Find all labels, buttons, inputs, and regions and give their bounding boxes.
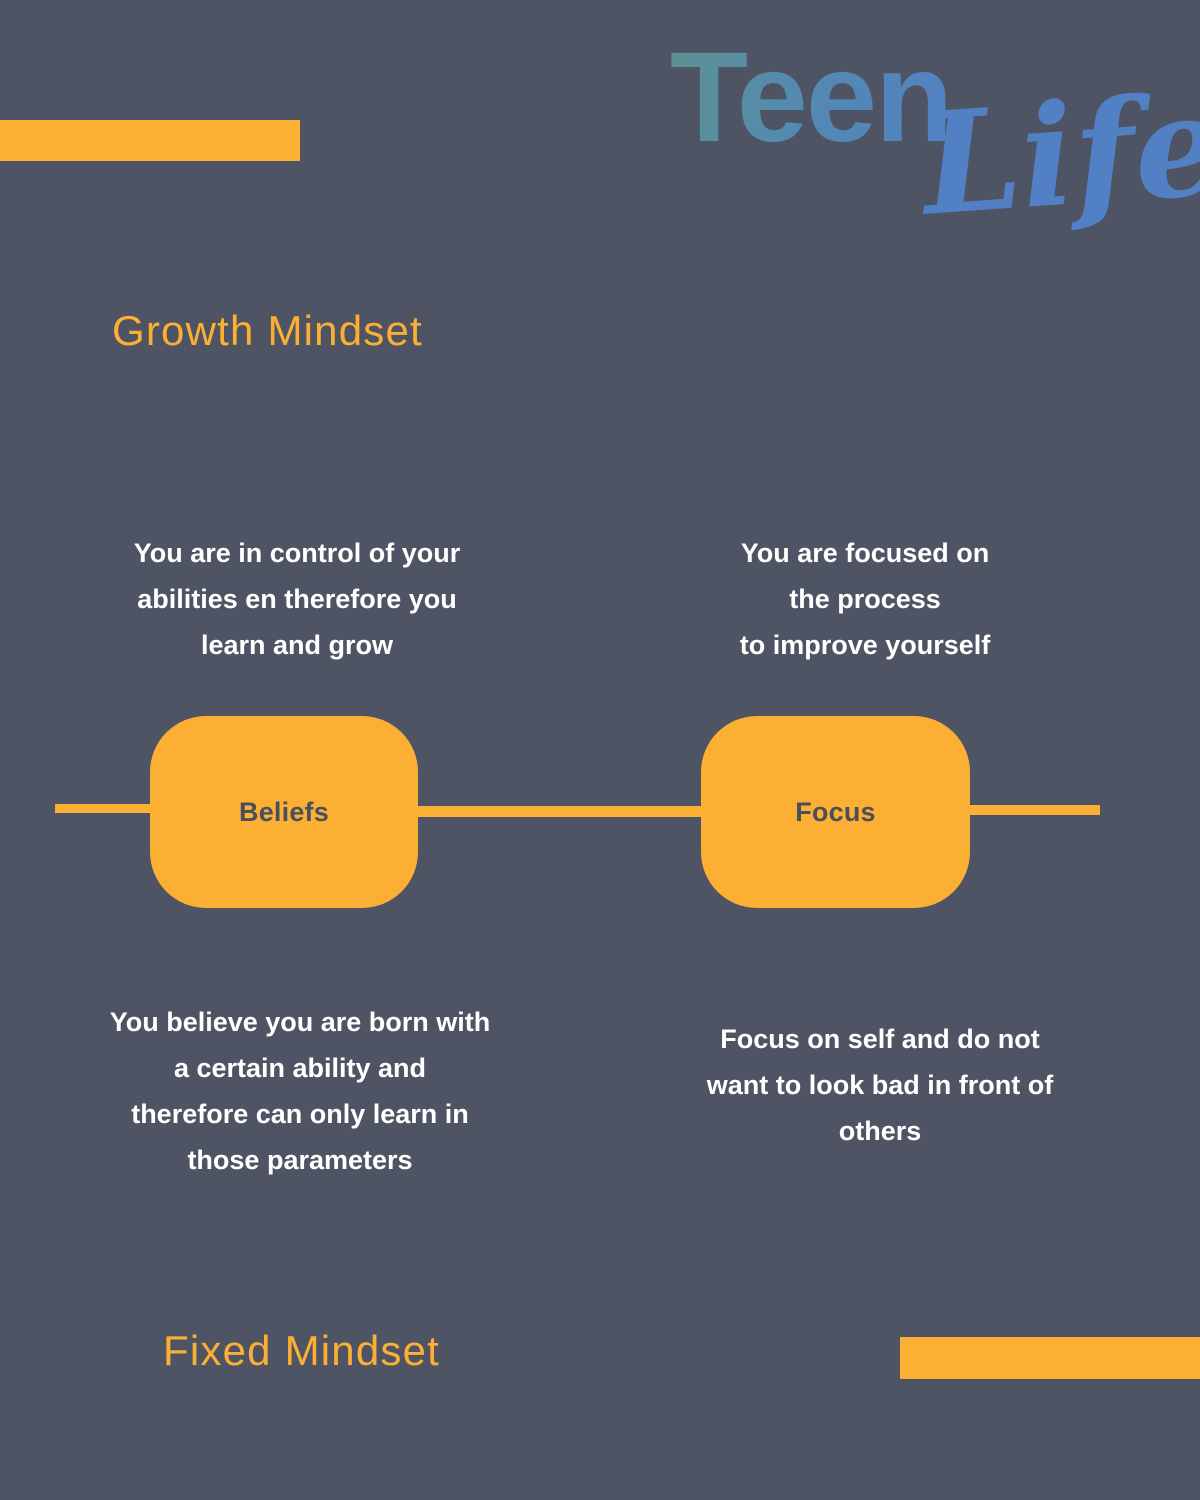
node-focus[interactable]: Focus (701, 716, 970, 908)
heading-growth-mindset: Growth Mindset (112, 307, 423, 355)
decorative-bar-bottom-right (900, 1337, 1200, 1379)
connector-line-right (955, 805, 1100, 815)
statement-fixed-focus: Focus on self and do not want to look ba… (645, 1017, 1115, 1155)
logo-word-teen: Teen (670, 34, 951, 162)
logo-word-life: Life (918, 75, 1200, 236)
node-beliefs[interactable]: Beliefs (150, 716, 418, 908)
decorative-bar-top-left (0, 120, 300, 161)
connector-line-left (55, 804, 165, 813)
poster-canvas: Teen Life Growth Mindset Fixed Mindset Y… (0, 0, 1200, 1500)
node-focus-label: Focus (795, 797, 876, 828)
heading-fixed-mindset: Fixed Mindset (163, 1327, 440, 1375)
statement-fixed-beliefs: You believe you are born with a certain … (55, 1000, 545, 1184)
connector-line-middle (405, 806, 715, 817)
teen-life-logo: Teen Life (660, 18, 1160, 288)
statement-growth-beliefs: You are in control of your abilities en … (72, 531, 522, 669)
node-beliefs-label: Beliefs (239, 797, 329, 828)
statement-growth-focus: You are focused on the process to improv… (640, 531, 1090, 669)
